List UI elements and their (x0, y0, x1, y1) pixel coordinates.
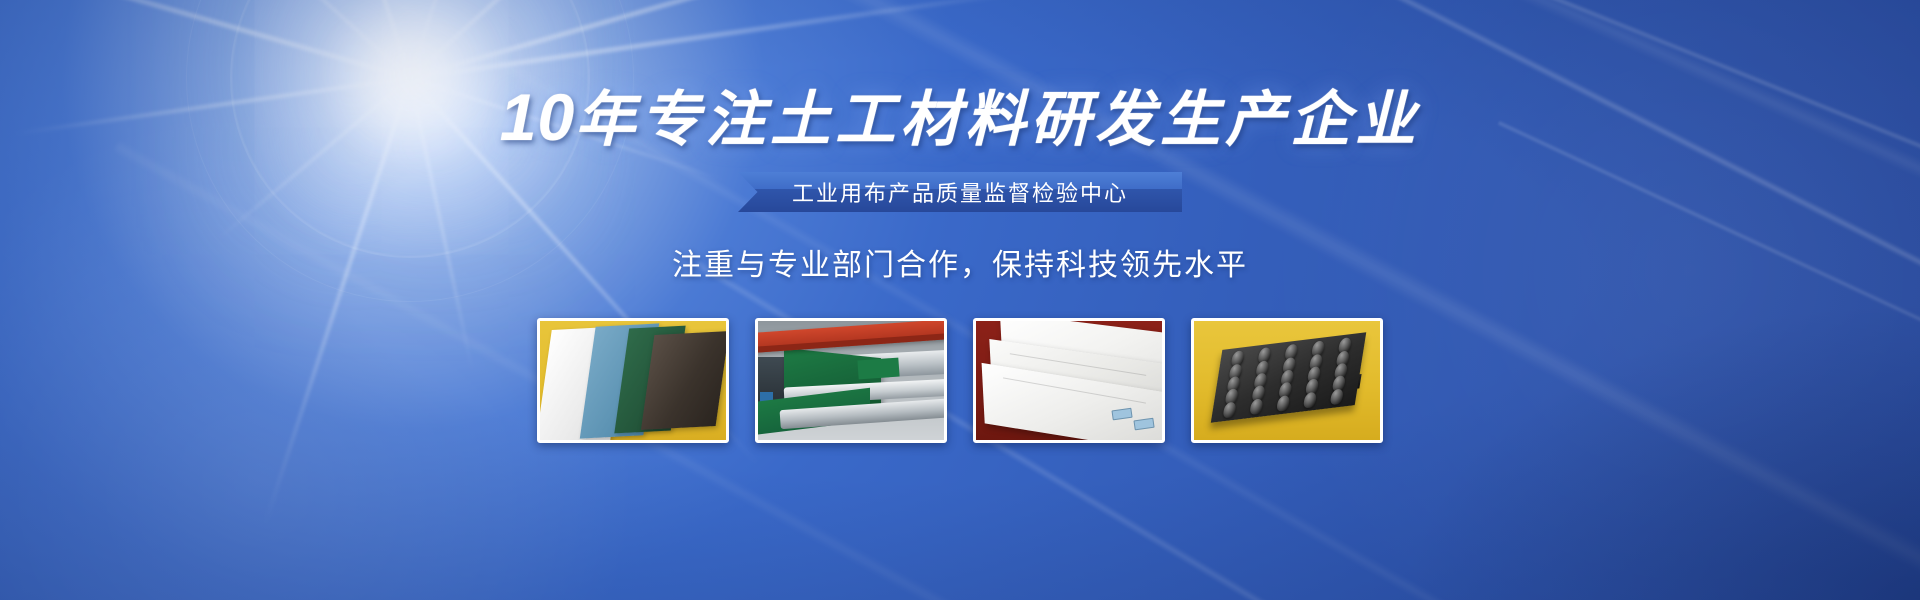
geomembrane-sheets-image (540, 321, 726, 440)
headline: 10年专注土工材料研发生产企业 (500, 84, 1420, 150)
headline-number: 10 (500, 80, 575, 154)
banner-content: 10年专注土工材料研发生产企业 工业用布产品质量监督检验中心 注重与专业部门合作… (0, 0, 1920, 600)
sheet-black (641, 331, 729, 430)
geotextile-fabric-image (976, 321, 1162, 440)
green-membrane-strip (858, 358, 900, 380)
production-line-image (758, 321, 944, 440)
drainage-board-image (1194, 321, 1380, 440)
gallery-item-production-line[interactable] (755, 318, 947, 443)
gallery-item-geotextile-fabric[interactable] (973, 318, 1165, 443)
certification-badge: 工业用布产品质量监督检验中心 (738, 172, 1182, 212)
headline-text: 年专注土工材料研发生产企业 (575, 86, 1420, 153)
certification-badge-label: 工业用布产品质量监督检验中心 (792, 176, 1128, 208)
certification-badge-wrap: 工业用布产品质量监督检验中心 (738, 172, 1182, 212)
gallery-item-drainage-board[interactable] (1191, 318, 1383, 443)
promotional-banner: 10年专注土工材料研发生产企业 工业用布产品质量监督检验中心 注重与专业部门合作… (0, 0, 1920, 600)
product-gallery (537, 318, 1383, 443)
subtitle: 注重与专业部门合作，保持科技领先水平 (672, 240, 1248, 284)
gallery-item-geomembrane-sheets[interactable] (537, 318, 729, 443)
